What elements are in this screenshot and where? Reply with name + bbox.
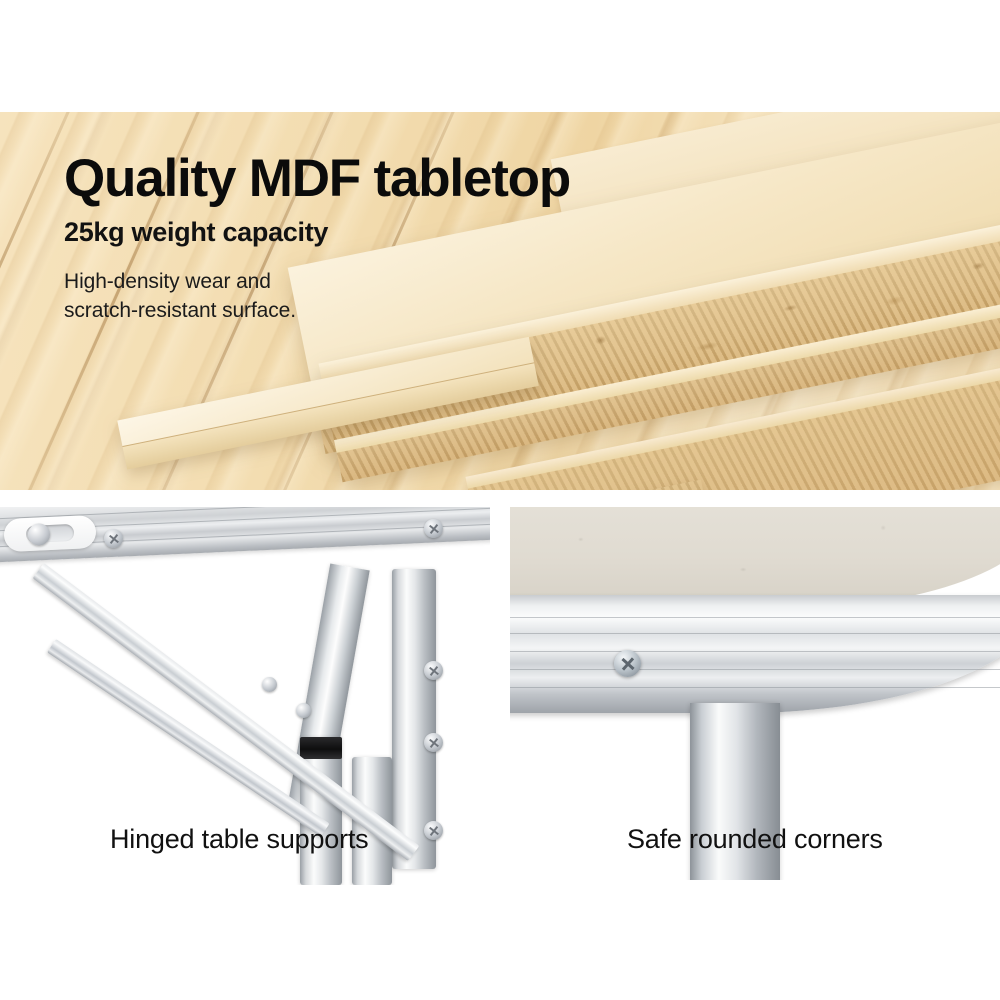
hinge-pivot-icon <box>296 703 311 718</box>
screw-icon <box>104 529 123 548</box>
slotted-bracket-plate <box>3 515 96 552</box>
hero-copy: Quality MDF tabletop 25kg weight capacit… <box>64 152 724 326</box>
hinge-pivot-icon <box>262 677 277 692</box>
caption-hinged-supports: Hinged table supports <box>110 824 368 855</box>
screw-icon <box>424 733 443 752</box>
leg-collar <box>300 737 342 759</box>
product-feature-image: Quality MDF tabletop 25kg weight capacit… <box>0 0 1000 1000</box>
band-groove <box>510 669 1000 670</box>
screw-icon <box>424 661 443 680</box>
aluminium-edge-band <box>510 595 1000 713</box>
screw-icon <box>424 519 443 538</box>
band-groove <box>510 617 1000 618</box>
caption-rounded-corners: Safe rounded corners <box>627 824 883 855</box>
hinged-support-strut-lower <box>47 639 330 837</box>
band-groove <box>510 651 1000 652</box>
band-groove <box>510 633 1000 634</box>
hero-description: High-density wear and scratch-resistant … <box>64 268 724 326</box>
hero-subtitle: 25kg weight capacity <box>64 218 724 248</box>
hero-description-line-1: High-density wear and <box>64 268 724 297</box>
page-title: Quality MDF tabletop <box>64 152 724 206</box>
tabletop-laminate-surface <box>510 507 1000 609</box>
hero-panel-mdf-tabletop: Quality MDF tabletop 25kg weight capacit… <box>0 112 1000 490</box>
screw-icon <box>424 821 443 840</box>
bolt-head-icon <box>28 523 51 546</box>
screw-icon <box>614 650 641 677</box>
band-groove <box>510 687 1000 688</box>
hero-description-line-2: scratch-resistant surface. <box>64 297 724 326</box>
